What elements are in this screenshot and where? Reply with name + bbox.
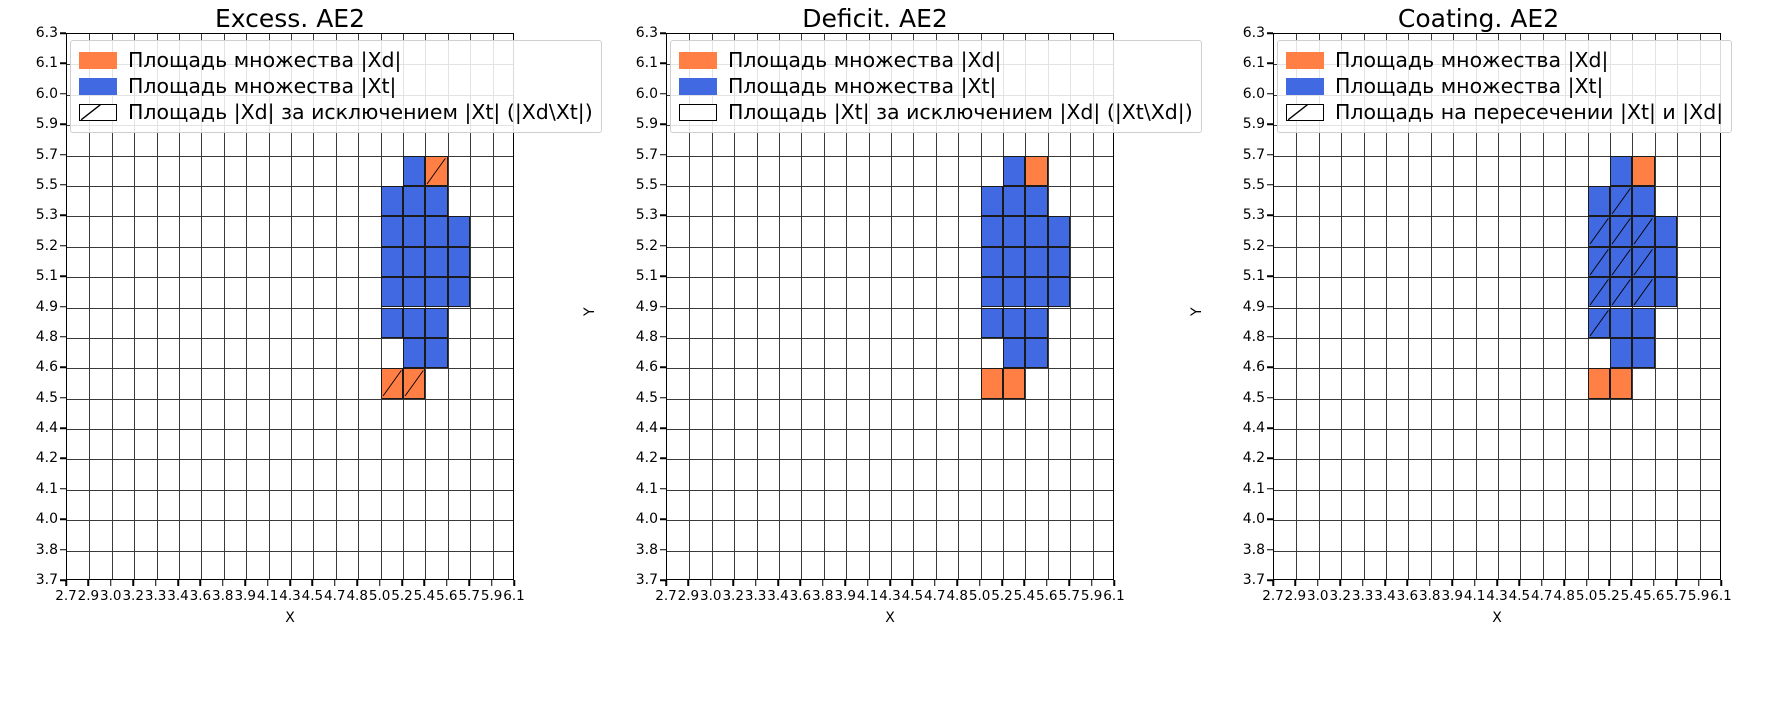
x-tick-label: 4.7 xyxy=(924,588,945,604)
y-tick-mark xyxy=(60,215,66,217)
grid-cell xyxy=(1003,156,1025,186)
x-tick-mark xyxy=(1001,580,1003,586)
y-tick-mark xyxy=(60,275,66,277)
y-tick-mark xyxy=(1267,32,1273,34)
x-tick-label: 6.1 xyxy=(1710,588,1731,604)
x-tick-mark xyxy=(155,580,157,586)
y-tick-mark xyxy=(60,184,66,186)
figure-canvas: Excess. AE23.73.84.04.14.24.44.54.64.84.… xyxy=(0,0,1787,709)
y-tick-label: 4.4 xyxy=(614,420,658,436)
x-tick-label: 3.0 xyxy=(100,588,121,604)
x-tick-mark xyxy=(177,580,179,586)
grid-cell xyxy=(1048,216,1070,246)
x-tick-mark xyxy=(468,580,470,586)
y-tick-mark xyxy=(660,367,666,369)
x-tick-label: 3.2 xyxy=(1329,588,1350,604)
y-tick-label: 4.9 xyxy=(14,299,58,315)
x-tick-label: 5.7 xyxy=(1665,588,1686,604)
y-tick-mark xyxy=(1267,184,1273,186)
y-tick-mark xyxy=(660,488,666,490)
grid-cell xyxy=(1003,368,1025,398)
y-tick-mark xyxy=(1267,215,1273,217)
y-tick-mark xyxy=(60,488,66,490)
x-tick-label: 3.8 xyxy=(212,588,233,604)
x-tick-label: 5.0 xyxy=(969,588,990,604)
y-tick-mark xyxy=(660,32,666,34)
grid-cell xyxy=(403,156,425,186)
x-tick-label: 5.4 xyxy=(1014,588,1035,604)
x-tick-label: 5.9 xyxy=(1081,588,1102,604)
grid-cell xyxy=(1610,338,1632,368)
x-tick-label: 6.1 xyxy=(1103,588,1124,604)
grid-cell xyxy=(425,277,447,307)
x-tick-mark xyxy=(289,580,291,586)
grid-cell xyxy=(381,247,403,277)
x-tick-mark xyxy=(1474,580,1476,586)
y-tick-mark xyxy=(660,427,666,429)
legend-label: Площадь |Xd| за исключением |Xt| (|Xd\Xt… xyxy=(128,102,593,123)
grid-cell xyxy=(381,186,403,216)
x-tick-label: 5.2 xyxy=(991,588,1012,604)
x-tick-label: 4.1 xyxy=(257,588,278,604)
y-tick-mark xyxy=(1267,427,1273,429)
x-tick-label: 4.1 xyxy=(1464,588,1485,604)
y-tick-mark xyxy=(60,32,66,34)
legend-swatch-blue-icon xyxy=(1286,78,1324,95)
x-tick-label: 2.7 xyxy=(55,588,76,604)
grid-cell xyxy=(425,338,447,368)
grid-cell xyxy=(448,277,470,307)
grid-cell xyxy=(403,338,425,368)
grid-cell xyxy=(1025,308,1047,338)
y-tick-mark xyxy=(60,518,66,520)
x-tick-mark xyxy=(65,580,67,586)
panel-title: Excess. AE2 xyxy=(0,4,580,33)
x-tick-mark xyxy=(379,580,381,586)
legend-swatch-hatch-icon xyxy=(1286,104,1324,121)
grid-cell xyxy=(403,308,425,338)
y-tick-mark xyxy=(60,154,66,156)
grid-cell xyxy=(381,216,403,246)
grid-cell xyxy=(1003,186,1025,216)
legend-item[interactable]: Площадь множества |Xt| xyxy=(79,73,593,99)
x-tick-mark xyxy=(822,580,824,586)
y-tick-mark xyxy=(660,215,666,217)
grid-cell xyxy=(425,247,447,277)
y-axis-label: Y xyxy=(582,296,598,316)
y-tick-label: 4.9 xyxy=(1221,299,1265,315)
x-tick-mark xyxy=(401,580,403,586)
grid-cell xyxy=(403,216,425,246)
y-tick-label: 4.2 xyxy=(14,450,58,466)
x-tick-label: 4.3 xyxy=(279,588,300,604)
grid-cell xyxy=(425,186,447,216)
x-tick-mark xyxy=(1675,580,1677,586)
x-tick-label: 3.0 xyxy=(700,588,721,604)
x-tick-mark xyxy=(1362,580,1364,586)
x-tick-label: 4.7 xyxy=(1531,588,1552,604)
x-tick-mark xyxy=(1068,580,1070,586)
y-tick-mark xyxy=(1267,306,1273,308)
grid-cell-hatched xyxy=(1632,277,1654,307)
x-tick-mark xyxy=(1698,580,1700,586)
x-tick-mark xyxy=(1496,580,1498,586)
y-tick-label: 4.8 xyxy=(14,329,58,345)
x-tick-label: 3.6 xyxy=(1397,588,1418,604)
y-tick-label: 6.1 xyxy=(14,55,58,71)
grid-cell xyxy=(1003,277,1025,307)
legend-item[interactable]: Площадь множества |Xd| xyxy=(679,47,1193,73)
y-tick-mark xyxy=(60,306,66,308)
x-tick-mark xyxy=(1046,580,1048,586)
legend-swatch-blue-icon xyxy=(679,78,717,95)
x-tick-label: 5.9 xyxy=(481,588,502,604)
y-tick-mark xyxy=(1267,154,1273,156)
x-tick-label: 3.6 xyxy=(190,588,211,604)
x-tick-mark xyxy=(1272,580,1274,586)
grid-cell xyxy=(981,216,1003,246)
grid-cell xyxy=(1025,156,1047,186)
y-tick-mark xyxy=(1267,245,1273,247)
y-tick-label: 4.5 xyxy=(614,390,658,406)
grid-cell xyxy=(1025,216,1047,246)
y-tick-label: 5.7 xyxy=(614,147,658,163)
x-tick-mark xyxy=(889,580,891,586)
y-tick-label: 5.3 xyxy=(14,207,58,223)
x-tick-label: 4.3 xyxy=(1486,588,1507,604)
legend-label: Площадь на пересечении |Xt| и |Xd| xyxy=(1335,102,1723,123)
legend-swatch-hatch-icon xyxy=(79,104,117,121)
y-tick-mark xyxy=(1267,275,1273,277)
x-tick-mark xyxy=(1653,580,1655,586)
x-tick-mark xyxy=(1541,580,1543,586)
grid-cell xyxy=(981,368,1003,398)
x-tick-label: 5.4 xyxy=(1621,588,1642,604)
x-tick-label: 5.0 xyxy=(1576,588,1597,604)
x-tick-mark xyxy=(912,580,914,586)
y-tick-mark xyxy=(1267,518,1273,520)
x-tick-label: 3.3 xyxy=(145,588,166,604)
grid-cell xyxy=(1003,308,1025,338)
y-tick-mark xyxy=(1267,549,1273,551)
grid-cell-hatched xyxy=(1588,277,1610,307)
grid-cell xyxy=(981,186,1003,216)
y-tick-label: 4.6 xyxy=(14,359,58,375)
x-tick-mark xyxy=(800,580,802,586)
y-tick-label: 4.2 xyxy=(614,450,658,466)
x-tick-mark xyxy=(956,580,958,586)
y-tick-mark xyxy=(660,245,666,247)
x-axis-label: X xyxy=(66,610,514,626)
grid-cell xyxy=(403,186,425,216)
x-tick-label: 3.2 xyxy=(122,588,143,604)
y-tick-mark xyxy=(660,275,666,277)
x-tick-label: 2.7 xyxy=(655,588,676,604)
y-tick-mark xyxy=(660,518,666,520)
grid-cell xyxy=(1610,368,1632,398)
y-tick-mark xyxy=(660,306,666,308)
y-tick-label: 5.1 xyxy=(14,268,58,284)
grid-cell-hatched xyxy=(403,368,425,398)
y-tick-mark xyxy=(60,397,66,399)
y-tick-label: 4.9 xyxy=(614,299,658,315)
legend-item[interactable]: Площадь множества |Xd| xyxy=(1286,47,1723,73)
legend-item[interactable]: Площадь |Xt| за исключением |Xd| (|Xt\Xd… xyxy=(679,99,1193,125)
x-tick-mark xyxy=(424,580,426,586)
x-tick-label: 4.8 xyxy=(346,588,367,604)
x-tick-mark xyxy=(513,580,515,586)
x-tick-label: 3.4 xyxy=(167,588,188,604)
y-tick-label: 5.2 xyxy=(614,238,658,254)
x-tick-mark xyxy=(491,580,493,586)
x-tick-mark xyxy=(1091,580,1093,586)
x-axis-label: X xyxy=(666,610,1114,626)
x-tick-label: 2.9 xyxy=(678,588,699,604)
y-tick-label: 5.1 xyxy=(1221,268,1265,284)
legend: Площадь множества |Xd|Площадь множества … xyxy=(70,40,602,133)
x-tick-label: 5.7 xyxy=(458,588,479,604)
x-tick-label: 2.9 xyxy=(78,588,99,604)
grid-cell xyxy=(1655,216,1677,246)
x-tick-mark xyxy=(1519,580,1521,586)
x-tick-mark xyxy=(1024,580,1026,586)
y-tick-label: 3.7 xyxy=(14,572,58,588)
x-tick-mark xyxy=(110,580,112,586)
x-tick-label: 3.8 xyxy=(812,588,833,604)
y-tick-mark xyxy=(660,458,666,460)
grid-cell xyxy=(1025,247,1047,277)
x-tick-mark xyxy=(844,580,846,586)
x-tick-label: 4.5 xyxy=(302,588,323,604)
x-tick-mark xyxy=(688,580,690,586)
legend: Площадь множества |Xd|Площадь множества … xyxy=(670,40,1202,133)
y-tick-label: 4.1 xyxy=(614,481,658,497)
grid-cell xyxy=(1003,338,1025,368)
y-tick-mark xyxy=(60,367,66,369)
y-tick-mark xyxy=(660,123,666,125)
x-tick-label: 3.0 xyxy=(1307,588,1328,604)
grid-cell xyxy=(1025,338,1047,368)
legend-swatch-blue-icon xyxy=(79,78,117,95)
grid-cell xyxy=(1632,308,1654,338)
y-tick-mark xyxy=(660,63,666,65)
y-tick-label: 3.8 xyxy=(14,542,58,558)
legend-swatch-empty-icon xyxy=(679,104,717,121)
legend-label: Площадь множества |Xt| xyxy=(128,76,396,97)
x-tick-label: 4.5 xyxy=(902,588,923,604)
x-tick-mark xyxy=(1295,580,1297,586)
y-tick-label: 5.5 xyxy=(1221,177,1265,193)
y-tick-label: 6.0 xyxy=(14,86,58,102)
x-tick-mark xyxy=(867,580,869,586)
y-tick-label: 5.1 xyxy=(614,268,658,284)
y-tick-label: 4.6 xyxy=(1221,359,1265,375)
x-tick-mark xyxy=(312,580,314,586)
legend-label: Площадь множества |Xt| xyxy=(728,76,996,97)
x-tick-label: 3.9 xyxy=(834,588,855,604)
grid-cell-hatched xyxy=(1632,247,1654,277)
y-tick-mark xyxy=(1267,367,1273,369)
x-tick-label: 6.1 xyxy=(503,588,524,604)
y-tick-label: 5.9 xyxy=(614,116,658,132)
x-tick-mark xyxy=(222,580,224,586)
y-tick-label: 4.5 xyxy=(1221,390,1265,406)
x-tick-mark xyxy=(1429,580,1431,586)
y-tick-mark xyxy=(1267,488,1273,490)
y-tick-label: 6.3 xyxy=(614,25,658,41)
x-tick-label: 3.2 xyxy=(722,588,743,604)
x-tick-mark xyxy=(710,580,712,586)
grid-cell xyxy=(1003,216,1025,246)
grid-cell xyxy=(403,277,425,307)
legend-item[interactable]: Площадь |Xd| за исключением |Xt| (|Xd\Xt… xyxy=(79,99,593,125)
x-tick-label: 4.8 xyxy=(946,588,967,604)
grid-cell xyxy=(1632,186,1654,216)
grid-cell xyxy=(381,277,403,307)
y-tick-label: 3.8 xyxy=(1221,542,1265,558)
y-tick-label: 5.3 xyxy=(614,207,658,223)
x-tick-label: 3.3 xyxy=(1352,588,1373,604)
x-tick-label: 4.5 xyxy=(1509,588,1530,604)
grid-cell xyxy=(1048,247,1070,277)
y-tick-label: 5.3 xyxy=(1221,207,1265,223)
x-tick-label: 5.0 xyxy=(369,588,390,604)
legend: Площадь множества |Xd|Площадь множества … xyxy=(1277,40,1732,133)
y-tick-label: 6.1 xyxy=(1221,55,1265,71)
legend-label: Площадь множества |Xd| xyxy=(128,50,401,71)
x-tick-mark xyxy=(777,580,779,586)
x-tick-label: 2.9 xyxy=(1285,588,1306,604)
y-tick-label: 5.9 xyxy=(1221,116,1265,132)
grid-cell xyxy=(1610,308,1632,338)
y-tick-label: 4.5 xyxy=(14,390,58,406)
y-tick-label: 3.7 xyxy=(1221,572,1265,588)
x-tick-label: 4.3 xyxy=(879,588,900,604)
y-tick-label: 4.0 xyxy=(14,511,58,527)
x-tick-label: 3.6 xyxy=(790,588,811,604)
y-tick-label: 5.5 xyxy=(14,177,58,193)
x-tick-mark xyxy=(755,580,757,586)
x-tick-mark xyxy=(934,580,936,586)
x-tick-mark xyxy=(1720,580,1722,586)
grid-cell xyxy=(981,308,1003,338)
y-tick-label: 4.8 xyxy=(1221,329,1265,345)
grid-cell xyxy=(981,247,1003,277)
x-tick-label: 5.6 xyxy=(1036,588,1057,604)
x-tick-mark xyxy=(1451,580,1453,586)
x-tick-label: 2.7 xyxy=(1262,588,1283,604)
grid-cell xyxy=(381,308,403,338)
y-tick-mark xyxy=(60,336,66,338)
x-tick-mark xyxy=(88,580,90,586)
grid-cell xyxy=(1003,247,1025,277)
y-tick-label: 4.0 xyxy=(614,511,658,527)
y-tick-label: 6.0 xyxy=(614,86,658,102)
x-tick-mark xyxy=(1384,580,1386,586)
y-tick-label: 5.7 xyxy=(14,147,58,163)
x-tick-label: 5.6 xyxy=(436,588,457,604)
x-tick-label: 5.2 xyxy=(391,588,412,604)
x-tick-mark xyxy=(356,580,358,586)
x-tick-mark xyxy=(1631,580,1633,586)
grid-cell xyxy=(1655,247,1677,277)
x-tick-mark xyxy=(1608,580,1610,586)
y-tick-mark xyxy=(1267,336,1273,338)
grid-cell-hatched xyxy=(1588,308,1610,338)
grid-cell-hatched xyxy=(1610,277,1632,307)
grid-cell xyxy=(448,216,470,246)
y-tick-label: 5.7 xyxy=(1221,147,1265,163)
x-tick-mark xyxy=(1339,580,1341,586)
grid-cell-hatched xyxy=(1610,186,1632,216)
grid-cell xyxy=(981,277,1003,307)
legend-swatch-orange-icon xyxy=(1286,52,1324,69)
grid-cell-hatched xyxy=(1610,247,1632,277)
y-tick-mark xyxy=(1267,63,1273,65)
panel-title: Deficit. AE2 xyxy=(580,4,1170,33)
grid-cell xyxy=(1632,338,1654,368)
grid-cell xyxy=(1588,368,1610,398)
y-tick-mark xyxy=(660,336,666,338)
x-tick-label: 3.9 xyxy=(234,588,255,604)
y-tick-label: 6.3 xyxy=(14,25,58,41)
x-tick-mark xyxy=(1586,580,1588,586)
x-tick-label: 3.8 xyxy=(1419,588,1440,604)
grid-cell xyxy=(1655,277,1677,307)
y-tick-mark xyxy=(1267,397,1273,399)
grid-cell xyxy=(403,247,425,277)
x-tick-label: 4.1 xyxy=(857,588,878,604)
y-tick-label: 5.9 xyxy=(14,116,58,132)
y-tick-label: 3.8 xyxy=(614,542,658,558)
y-tick-mark xyxy=(660,154,666,156)
y-tick-mark xyxy=(60,63,66,65)
x-tick-mark xyxy=(732,580,734,586)
legend-item[interactable]: Площадь множества |Xt| xyxy=(1286,73,1723,99)
legend-swatch-orange-icon xyxy=(79,52,117,69)
x-tick-mark xyxy=(1113,580,1115,586)
x-tick-label: 5.9 xyxy=(1688,588,1709,604)
grid-cell xyxy=(1025,277,1047,307)
grid-cell xyxy=(425,216,447,246)
grid-cell xyxy=(1048,277,1070,307)
x-tick-mark xyxy=(267,580,269,586)
y-tick-mark xyxy=(660,93,666,95)
x-tick-label: 5.2 xyxy=(1598,588,1619,604)
legend-item[interactable]: Площадь множества |Xt| xyxy=(679,73,1193,99)
y-tick-label: 4.0 xyxy=(1221,511,1265,527)
x-tick-mark xyxy=(334,580,336,586)
x-tick-label: 4.7 xyxy=(324,588,345,604)
legend-item[interactable]: Площадь множества |Xd| xyxy=(79,47,593,73)
grid-cell-hatched xyxy=(1632,216,1654,246)
y-tick-mark xyxy=(660,397,666,399)
y-tick-label: 6.0 xyxy=(1221,86,1265,102)
legend-item[interactable]: Площадь на пересечении |Xt| и |Xd| xyxy=(1286,99,1723,125)
y-tick-mark xyxy=(1267,93,1273,95)
legend-label: Площадь множества |Xt| xyxy=(1335,76,1603,97)
x-tick-mark xyxy=(979,580,981,586)
y-tick-mark xyxy=(60,245,66,247)
grid-cell xyxy=(1610,156,1632,186)
x-tick-label: 5.7 xyxy=(1058,588,1079,604)
x-axis-label: X xyxy=(1273,610,1721,626)
y-tick-mark xyxy=(60,93,66,95)
x-tick-label: 3.3 xyxy=(745,588,766,604)
x-tick-mark xyxy=(1317,580,1319,586)
y-tick-label: 6.1 xyxy=(614,55,658,71)
legend-swatch-orange-icon xyxy=(679,52,717,69)
